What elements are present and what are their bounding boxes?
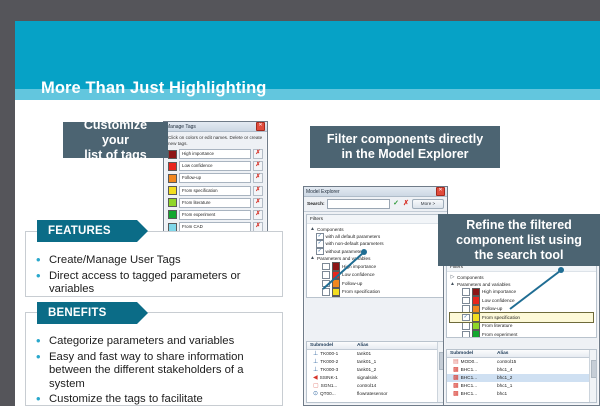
close-icon[interactable]: ✕	[256, 122, 265, 131]
cell-submodel: MOD0...	[461, 358, 478, 366]
tag-name-input[interactable]: From literature	[179, 198, 251, 208]
delete-tag-icon[interactable]: ✗	[253, 149, 263, 159]
cell-submodel: SGN1...	[321, 382, 338, 390]
column-submodel: Submodel	[447, 350, 494, 357]
more-button[interactable]: More >	[412, 199, 444, 209]
grid-scrollbar-2[interactable]	[589, 350, 596, 402]
list-item: Create/Manage User Tags	[32, 254, 274, 268]
filter-item-label: High importance	[482, 288, 516, 295]
filter-tree-1: ▲Componentswith all default parameterswi…	[307, 224, 444, 298]
features-list: Create/Manage User TagsDirect access to …	[26, 254, 282, 297]
checkbox[interactable]	[462, 288, 470, 296]
grid-header-1: Submodel Alias	[307, 342, 444, 350]
table-row[interactable]: ▢SGN1...control14	[307, 382, 444, 390]
filter-tree-item[interactable]: From literature	[310, 296, 441, 298]
filter-item-label: From experiment	[482, 331, 517, 338]
table-row[interactable]: ▤MOD0...control15	[447, 358, 596, 366]
filter-tree-item[interactable]: From specification	[450, 313, 593, 322]
component-icon: ▩	[453, 383, 459, 389]
checkbox[interactable]	[462, 322, 470, 330]
benefits-banner: BENEFITS	[37, 302, 137, 324]
features-banner: FEATURES	[37, 220, 137, 242]
model-explorer-titlebar-1: Model Explorer ✕	[304, 187, 447, 197]
filter-item-label: From literature	[482, 322, 512, 329]
filter-tree-item[interactable]: High importance	[450, 288, 593, 297]
cell-alias: tank01	[357, 350, 444, 358]
model-explorer-window-2[interactable]: ✕ Filters ▷Components▲Parameters and var…	[443, 249, 600, 406]
filter-item-label: Follow-up	[342, 280, 362, 287]
filter-item-label: From literature	[342, 297, 372, 298]
filters-pane-1: Filters ▲Componentswith all default para…	[306, 214, 445, 298]
cell-alias: tank01_1	[357, 358, 444, 366]
checkbox[interactable]	[316, 240, 324, 248]
grid-rows-1: ⊥TK000-1tank01⊥TK000-2tank01_1⊥TK000-3ta…	[307, 350, 444, 398]
tag-color-swatch	[472, 330, 481, 338]
cell-submodel: QT00...	[320, 390, 336, 398]
cell-alias: signalsink	[357, 374, 444, 382]
table-row[interactable]: ◀SSINK-1signalsink	[307, 374, 444, 382]
filter-tree-item[interactable]: From specification	[310, 288, 441, 297]
filter-item-label: Components	[457, 274, 484, 281]
filter-tree-item[interactable]: From experiment	[450, 330, 593, 338]
delete-tag-icon[interactable]: ✗	[253, 186, 263, 196]
manage-tags-title: Manage Tags	[166, 124, 196, 130]
benefits-list: Categorize parameters and variablesEasy …	[26, 335, 282, 406]
checkbox[interactable]	[322, 297, 330, 299]
cell-submodel: TK000-3	[320, 366, 338, 374]
component-icon: ⊙	[313, 391, 318, 397]
slide: More Than Just Highlighting Customize yo…	[15, 21, 600, 406]
tag-color-swatch	[332, 296, 341, 298]
grid-header-2: Submodel Alias	[447, 350, 596, 358]
filter-item-label: with non-default parameters	[326, 240, 384, 247]
clear-icon[interactable]: ✗	[402, 200, 410, 208]
delete-tag-icon[interactable]: ✗	[253, 173, 263, 183]
filter-tree-2: ▷Components▲Parameters and variablesHigh…	[447, 272, 596, 338]
manage-tags-titlebar: Manage Tags ✕	[164, 122, 267, 132]
search-input[interactable]	[327, 199, 390, 209]
cell-alias: bhc1_1	[497, 382, 596, 390]
checkbox[interactable]	[462, 314, 470, 322]
cell-submodel: BHC1...	[461, 390, 477, 398]
filter-item-label: Parameters and variables	[317, 255, 370, 262]
tag-color-swatch	[472, 296, 481, 305]
filter-item-label: From specification	[342, 288, 380, 295]
list-item: Direct access to tagged parameters or va…	[32, 270, 274, 297]
cell-submodel: BHC1...	[461, 374, 477, 382]
tag-color-swatch	[332, 271, 341, 280]
filter-item-label: with all default parameters	[326, 233, 381, 240]
cell-alias: bhc1_4	[497, 366, 596, 374]
tag-name-input[interactable]: Low confidence	[179, 161, 251, 171]
table-row[interactable]: ▩BHC1...bhc1_1	[447, 382, 596, 390]
filter-tree-item[interactable]: From literature	[450, 322, 593, 331]
cell-submodel: SSINK-1	[320, 374, 338, 382]
benefits-box: Categorize parameters and variablesEasy …	[25, 312, 283, 406]
checkbox[interactable]	[462, 305, 470, 313]
column-alias: Alias	[494, 350, 596, 357]
column-alias: Alias	[354, 342, 444, 349]
table-row[interactable]: ▩BHC1...bhc1_4	[447, 366, 596, 374]
filter-item-label: From specification	[482, 314, 520, 321]
callout-filter: Filter components directly in the Model …	[310, 126, 500, 168]
accept-icon[interactable]: ✓	[392, 200, 400, 208]
tag-color-swatch	[332, 262, 341, 271]
cell-submodel: TK000-1	[320, 350, 338, 358]
tag-row[interactable]: From literature✗	[168, 198, 263, 208]
filter-item-label: Components	[317, 226, 344, 233]
checkbox[interactable]	[322, 280, 330, 288]
filter-item-label: Low confidence	[482, 297, 515, 304]
tag-color-swatch[interactable]	[168, 186, 177, 195]
tag-color-swatch	[472, 288, 481, 297]
close-icon[interactable]: ✕	[436, 187, 445, 196]
filter-item-label: Follow-up	[482, 305, 502, 312]
delete-tag-icon[interactable]: ✗	[253, 198, 263, 208]
tag-color-swatch	[472, 322, 481, 331]
table-row[interactable]: ▩BHC1...bhc1_2	[447, 374, 596, 382]
filters-pane-2: Filters ▷Components▲Parameters and varia…	[446, 262, 597, 338]
callout-refine-line2: component list using	[446, 233, 592, 248]
tag-color-swatch[interactable]	[168, 162, 177, 171]
component-icon: ▩	[453, 367, 459, 373]
manage-tags-dialog[interactable]: Manage Tags ✕ Click on colors or edit na…	[163, 121, 268, 246]
callout-filter-line2: in the Model Explorer	[318, 147, 492, 162]
tag-color-swatch[interactable]	[168, 210, 177, 219]
cell-submodel: TK000-2	[320, 358, 338, 366]
table-row[interactable]: ⊥TK000-2tank01_1	[307, 358, 444, 366]
cell-submodel: BHC1...	[461, 382, 477, 390]
checkbox[interactable]	[316, 248, 324, 256]
tag-color-swatch[interactable]	[168, 150, 177, 159]
filter-item-label: without parameters	[326, 248, 366, 255]
search-row-1: Search: ✓ ✗ More >	[304, 197, 447, 212]
callout-customize-line1: Customize your	[71, 118, 160, 148]
checkbox[interactable]	[322, 263, 330, 271]
checkbox[interactable]	[322, 288, 330, 296]
tag-row[interactable]: High importance✗	[168, 149, 263, 159]
expander-icon[interactable]: ▲	[450, 281, 455, 288]
cell-alias: bhc1	[497, 390, 596, 398]
callout-customize: Customize your list of tags	[63, 122, 168, 158]
list-item: Customize the tags to facilitate communi…	[32, 393, 274, 406]
tag-row[interactable]: From experiment✗	[168, 210, 263, 220]
callout-refine-line3: the search tool	[446, 248, 592, 263]
list-item: Easy and fast way to share information b…	[32, 351, 274, 392]
tag-name-input[interactable]: From experiment	[179, 210, 251, 220]
cell-alias: control15	[497, 358, 596, 366]
tag-color-swatch	[472, 305, 481, 314]
component-icon: ▩	[453, 391, 459, 397]
checkbox[interactable]	[316, 233, 324, 241]
tag-color-swatch[interactable]	[168, 198, 177, 207]
component-icon: ⊥	[313, 367, 318, 373]
tag-row[interactable]: Follow-up✗	[168, 173, 263, 183]
checkbox[interactable]	[322, 271, 330, 279]
tag-color-swatch	[332, 279, 341, 288]
tag-color-swatch[interactable]	[168, 174, 177, 183]
delete-tag-icon[interactable]: ✗	[253, 210, 263, 220]
callout-customize-line2: list of tags	[71, 148, 160, 163]
filter-tree-item[interactable]: with non-default parameters	[310, 240, 441, 248]
filter-tree-item[interactable]: Follow-up	[310, 279, 441, 288]
delete-tag-icon[interactable]: ✗	[253, 161, 263, 171]
tag-row[interactable]: Low confidence✗	[168, 161, 263, 171]
tag-name-input[interactable]: From specification	[179, 186, 251, 196]
component-icon: ◀	[313, 375, 318, 381]
filter-tree-item[interactable]: Follow-up	[450, 305, 593, 314]
tag-name-input[interactable]: High importance	[179, 149, 251, 159]
filter-item-label: High importance	[342, 263, 376, 270]
callout-refine-line1: Refine the filtered	[446, 218, 592, 233]
list-item: Categorize parameters and variables	[32, 335, 274, 349]
checkbox[interactable]	[462, 297, 470, 305]
cell-alias: flowratesensor	[357, 390, 444, 398]
features-banner-label: FEATURES	[48, 225, 111, 237]
table-row[interactable]: ⊥TK000-3tank01_2	[307, 366, 444, 374]
component-icon: ⊥	[313, 351, 318, 357]
component-icon: ▤	[453, 359, 459, 365]
filter-item-label: Parameters and variables	[457, 281, 510, 288]
component-grid-2[interactable]: Submodel Alias ▤MOD0...control15▩BHC1...…	[446, 349, 597, 403]
cell-submodel: BHC1...	[461, 366, 477, 374]
tag-name-input[interactable]: Follow-up	[179, 173, 251, 183]
filter-tree-item[interactable]: with all default parameters	[310, 233, 441, 241]
component-icon: ⊥	[313, 359, 318, 365]
table-row[interactable]: ▩BHC1...bhc1	[447, 390, 596, 398]
filter-tree-item[interactable]: ▲Components	[310, 226, 441, 233]
model-explorer-title: Model Explorer	[306, 189, 340, 195]
filter-tree-item[interactable]: ▲Parameters and variables	[450, 281, 593, 288]
expander-icon[interactable]: ▲	[310, 255, 315, 262]
component-grid-1[interactable]: Submodel Alias ⊥TK000-1tank01⊥TK000-2tan…	[306, 341, 445, 403]
filter-tree-item[interactable]: without parameters	[310, 248, 441, 256]
tag-row[interactable]: From specification✗	[168, 186, 263, 196]
filter-tree-item[interactable]: ▲Parameters and variables	[310, 255, 441, 262]
filter-tree-item[interactable]: Low confidence	[450, 296, 593, 305]
filter-tree-item[interactable]: High importance	[310, 262, 441, 271]
component-icon: ▢	[313, 383, 319, 389]
table-row[interactable]: ⊙QT00...flowratesensor	[307, 390, 444, 398]
expander-icon[interactable]: ▷	[450, 274, 455, 281]
page-title: More Than Just Highlighting	[41, 79, 266, 98]
filter-tree-item[interactable]: ▷Components	[450, 274, 593, 281]
tag-color-swatch	[472, 313, 481, 322]
manage-tags-hint: Click on colors or edit names. Delete or…	[164, 132, 267, 149]
model-explorer-window-1[interactable]: Model Explorer ✕ Search: ✓ ✗ More > Filt…	[303, 186, 448, 406]
cell-alias: control14	[357, 382, 444, 390]
tag-list: High importance✗Low confidence✗Follow-up…	[164, 149, 267, 232]
callout-refine: Refine the filtered component list using…	[438, 214, 600, 266]
filter-tree-item[interactable]: Low confidence	[310, 271, 441, 280]
scrollbar-thumb[interactable]	[591, 360, 597, 378]
tag-color-swatch	[332, 288, 341, 297]
checkbox[interactable]	[462, 331, 470, 339]
table-row[interactable]: ⊥TK000-1tank01	[307, 350, 444, 358]
filters-header: Filters	[307, 215, 444, 224]
filter-item-label: Low confidence	[342, 271, 375, 278]
cell-alias: tank01_2	[357, 366, 444, 374]
benefits-banner-label: BENEFITS	[48, 307, 106, 319]
grid-rows-2: ▤MOD0...control15▩BHC1...bhc1_4▩BHC1...b…	[447, 358, 596, 398]
column-submodel: Submodel	[307, 342, 354, 349]
component-icon: ▩	[453, 375, 459, 381]
search-label: Search:	[307, 202, 325, 207]
cell-alias: bhc1_2	[497, 374, 596, 382]
callout-filter-line1: Filter components directly	[318, 132, 492, 147]
expander-icon[interactable]: ▲	[310, 226, 315, 233]
